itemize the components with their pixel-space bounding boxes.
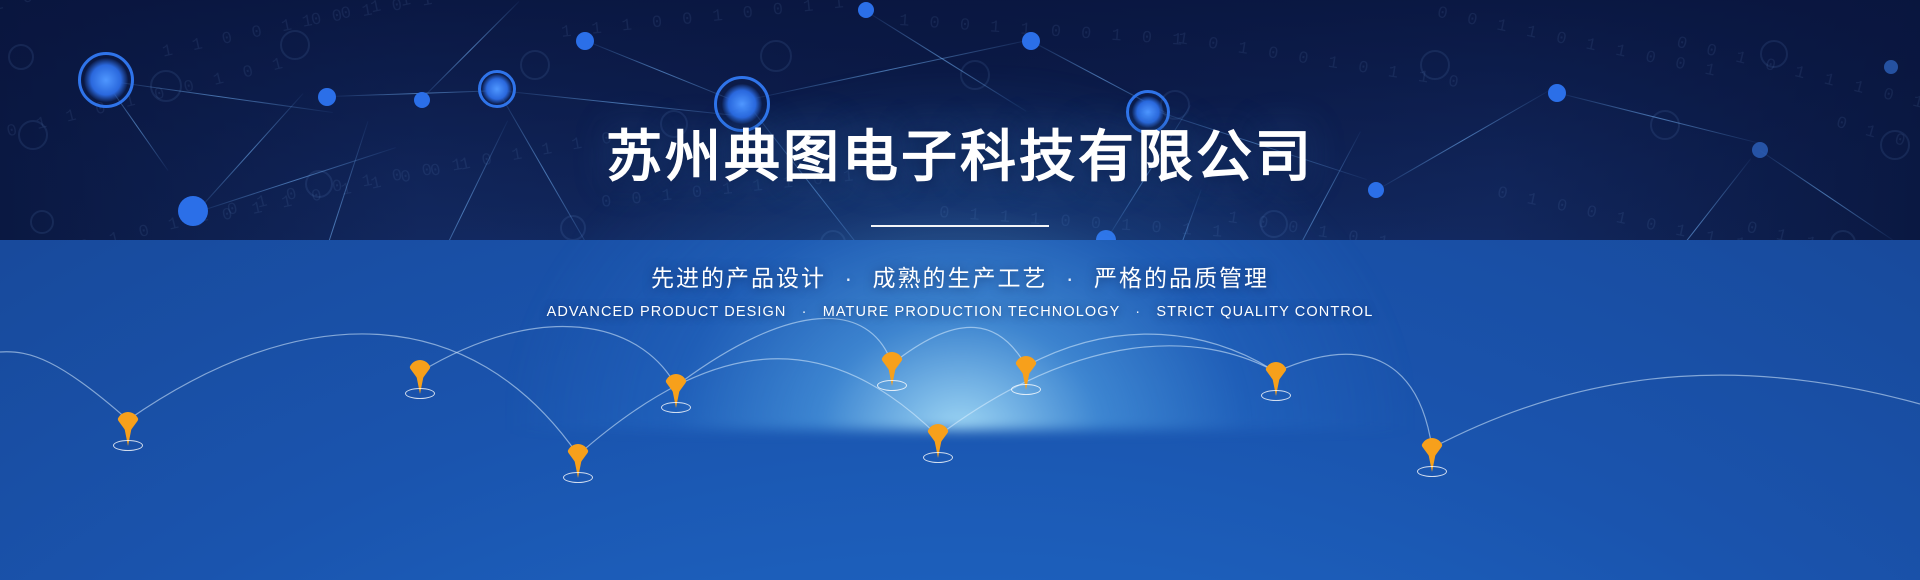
pin-base-ring bbox=[563, 472, 593, 483]
pin-base-ring bbox=[1261, 390, 1291, 401]
pin-base-ring bbox=[877, 380, 907, 391]
slogan-en-part-1: ADVANCED PRODUCT DESIGN bbox=[547, 304, 787, 320]
location-pin bbox=[881, 352, 903, 386]
location-pin bbox=[567, 444, 589, 478]
slogan-en-part-3: STRICT QUALITY CONTROL bbox=[1156, 304, 1373, 320]
company-hero-banner: 1 0 1 0 0 1 0 1 1 0 0 1 1 0 1 0 0 1 0 1 … bbox=[0, 0, 1920, 580]
pin-base-ring bbox=[1011, 384, 1041, 395]
title-divider bbox=[871, 225, 1049, 227]
location-pin bbox=[665, 374, 687, 408]
pin-base-ring bbox=[923, 452, 953, 463]
slogan-separator: · bbox=[1056, 265, 1086, 291]
pin-base-ring bbox=[1417, 466, 1447, 477]
slogan-separator: · bbox=[792, 304, 818, 320]
location-pin bbox=[409, 360, 431, 394]
hero-text-block: 苏州典图电子科技有限公司 先进的产品设计 · 成熟的生产工艺 · 严格的品质管理… bbox=[0, 128, 1920, 320]
location-pin bbox=[927, 424, 949, 458]
slogan-cn-part-1: 先进的产品设计 bbox=[651, 265, 826, 291]
location-pin bbox=[1421, 438, 1443, 472]
location-pin bbox=[1265, 362, 1287, 396]
slogan-cn-part-3: 严格的品质管理 bbox=[1094, 265, 1269, 291]
slogan-separator: · bbox=[1125, 304, 1151, 320]
company-title: 苏州典图电子科技有限公司 bbox=[0, 128, 1920, 187]
pin-base-ring bbox=[405, 388, 435, 399]
slogan-cn-part-2: 成熟的生产工艺 bbox=[873, 265, 1048, 291]
pin-base-ring bbox=[113, 440, 143, 451]
pin-base-ring bbox=[661, 402, 691, 413]
location-pin bbox=[1015, 356, 1037, 390]
location-pin bbox=[117, 412, 139, 446]
slogan-separator: · bbox=[834, 265, 864, 291]
slogan-en-part-2: MATURE PRODUCTION TECHNOLOGY bbox=[823, 304, 1120, 320]
slogan-chinese: 先进的产品设计 · 成熟的生产工艺 · 严格的品质管理 bbox=[0, 259, 1920, 293]
slogan-english: ADVANCED PRODUCT DESIGN · MATURE PRODUCT… bbox=[0, 304, 1920, 320]
